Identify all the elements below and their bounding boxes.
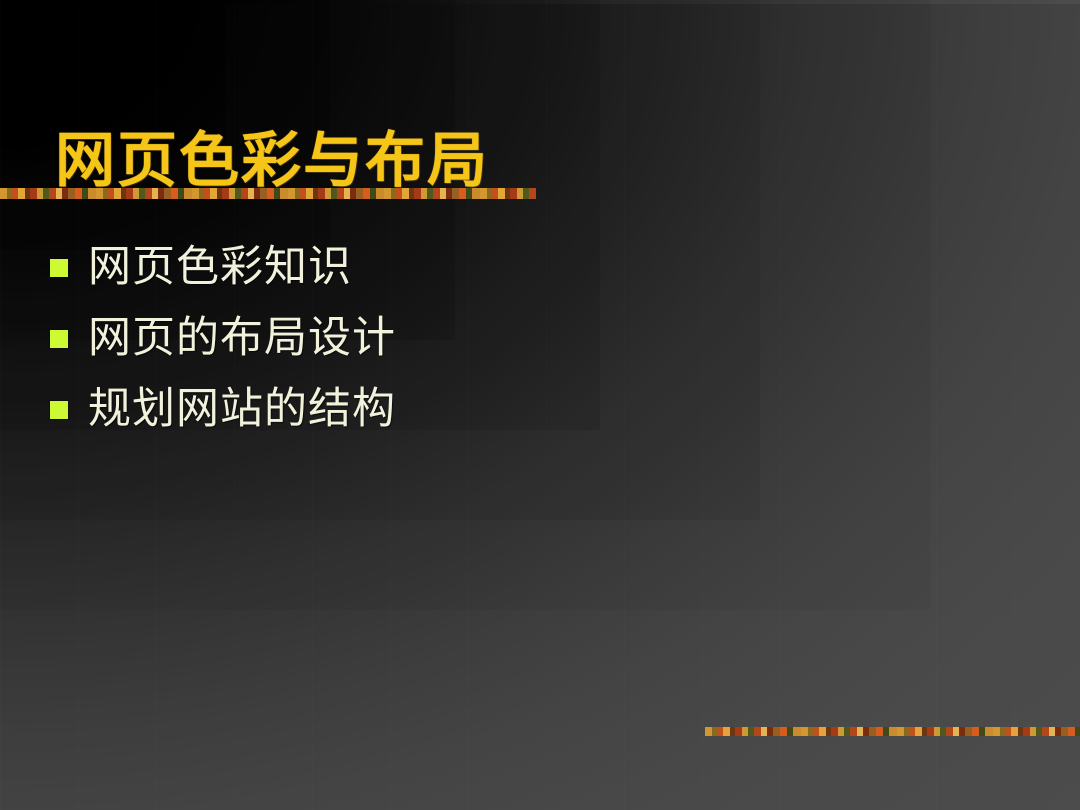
- square-bullet-icon: [50, 330, 68, 348]
- list-item-label: 网页色彩知识: [88, 246, 352, 289]
- list-item[interactable]: 规划网站的结构: [50, 374, 950, 445]
- slide-title: 网页色彩与布局: [55, 128, 489, 195]
- list-item-label: 规划网站的结构: [88, 388, 396, 431]
- list-item-label: 网页的布局设计: [88, 317, 396, 360]
- title-decorative-rule: [0, 188, 536, 199]
- footer-decorative-rule: [705, 727, 1080, 736]
- list-item[interactable]: 网页色彩知识: [50, 232, 950, 303]
- list-item[interactable]: 网页的布局设计: [50, 303, 950, 374]
- square-bullet-icon: [50, 401, 68, 419]
- presentation-slide: 网页色彩与布局 网页色彩知识 网页的布局设计 规划网站的结构: [0, 0, 1080, 810]
- bullet-list: 网页色彩知识 网页的布局设计 规划网站的结构: [50, 232, 950, 445]
- square-bullet-icon: [50, 259, 68, 277]
